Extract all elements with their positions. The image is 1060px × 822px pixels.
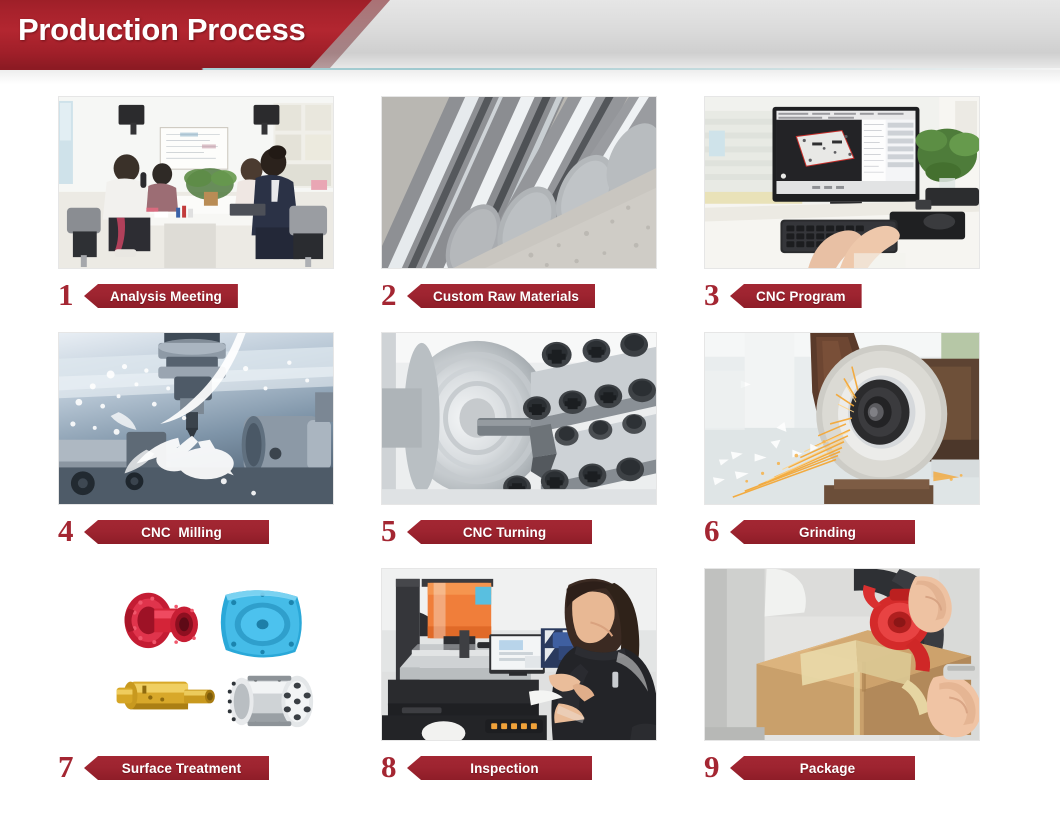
step-caption: 7 Surface Treatment — [58, 751, 334, 785]
package-photo — [704, 568, 980, 741]
step-number: 6 — [704, 515, 730, 549]
step-label-banner: Analysis Meeting — [84, 284, 238, 308]
step-caption: 4 CNC Milling — [58, 515, 334, 549]
cnc-milling-photo — [58, 332, 334, 505]
grinding-photo — [704, 332, 980, 505]
step-caption: 1 Analysis Meeting — [58, 279, 334, 313]
process-step-card: 9 Package — [704, 568, 980, 804]
process-step-card: 3 CNC Program — [704, 96, 980, 332]
process-steps-grid: 1 Analysis Meeting — [0, 86, 1060, 804]
cnc-turning-photo — [381, 332, 657, 505]
step-label-banner: Inspection — [407, 756, 592, 780]
process-step-card: 8 Inspection — [381, 568, 657, 804]
cnc-program-photo — [704, 96, 980, 269]
step-number: 3 — [704, 279, 730, 313]
page-header: Production Process — [0, 0, 1060, 84]
custom-raw-materials-photo — [381, 96, 657, 269]
step-label-banner: Package — [730, 756, 915, 780]
step-label-banner: Grinding — [730, 520, 915, 544]
step-label-banner: Surface Treatment — [84, 756, 269, 780]
step-number: 7 — [58, 751, 84, 785]
step-label-banner: CNC Program — [730, 284, 862, 308]
step-label-banner: Custom Raw Materials — [407, 284, 595, 308]
process-step-card: 1 Analysis Meeting — [58, 96, 334, 332]
analysis-meeting-photo — [58, 96, 334, 269]
step-number: 1 — [58, 279, 84, 313]
process-step-card: 5 CNC Turning — [381, 332, 657, 568]
step-number: 8 — [381, 751, 407, 785]
step-caption: 3 CNC Program — [704, 279, 980, 313]
step-caption: 6 Grinding — [704, 515, 980, 549]
step-number: 5 — [381, 515, 407, 549]
step-caption: 8 Inspection — [381, 751, 657, 785]
page-title: Production Process — [18, 12, 305, 48]
process-step-card: 7 Surface Treatment — [58, 568, 334, 804]
process-step-card: 6 Grinding — [704, 332, 980, 568]
step-number: 4 — [58, 515, 84, 549]
step-caption: 2 Custom Raw Materials — [381, 279, 657, 313]
step-number: 2 — [381, 279, 407, 313]
step-number: 9 — [704, 751, 730, 785]
process-step-card: 2 Custom Raw Materials — [381, 96, 657, 332]
inspection-photo — [381, 568, 657, 741]
step-label-banner: CNC Milling — [84, 520, 269, 544]
surface-treatment-photo — [58, 568, 334, 741]
step-caption: 5 CNC Turning — [381, 515, 657, 549]
step-label-banner: CNC Turning — [407, 520, 592, 544]
process-step-card: 4 CNC Milling — [58, 332, 334, 568]
header-underline-fade — [0, 70, 1060, 84]
step-caption: 9 Package — [704, 751, 980, 785]
